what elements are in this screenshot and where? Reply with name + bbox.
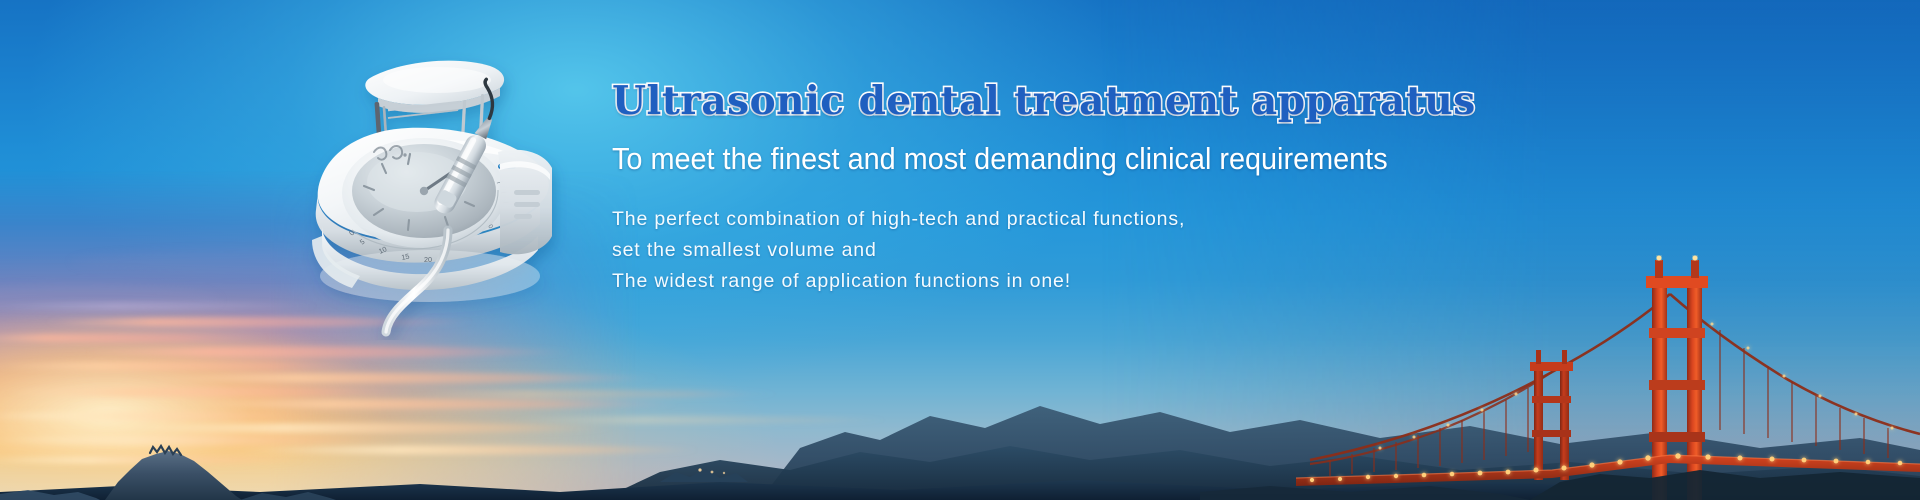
body-line-1: The perfect combination of high-tech and… bbox=[612, 204, 1372, 235]
body-line-2: set the smallest volume and bbox=[612, 235, 1372, 266]
product-hero-banner: 0 5 10 15 20 | | | 0 bbox=[0, 0, 1920, 500]
banner-copy: Ultrasonic dental treatment apparatus To… bbox=[612, 78, 1372, 297]
ultrasonic-dental-scaler-unit: 0 5 10 15 20 | | | 0 bbox=[252, 40, 582, 340]
banner-subheadline: To meet the finest and most demanding cl… bbox=[612, 140, 1319, 178]
body-line-3: The widest range of application function… bbox=[612, 266, 1372, 297]
banner-body-text: The perfect combination of high-tech and… bbox=[612, 204, 1372, 297]
svg-text:20: 20 bbox=[424, 255, 432, 264]
banner-headline: Ultrasonic dental treatment apparatus bbox=[612, 78, 1372, 124]
